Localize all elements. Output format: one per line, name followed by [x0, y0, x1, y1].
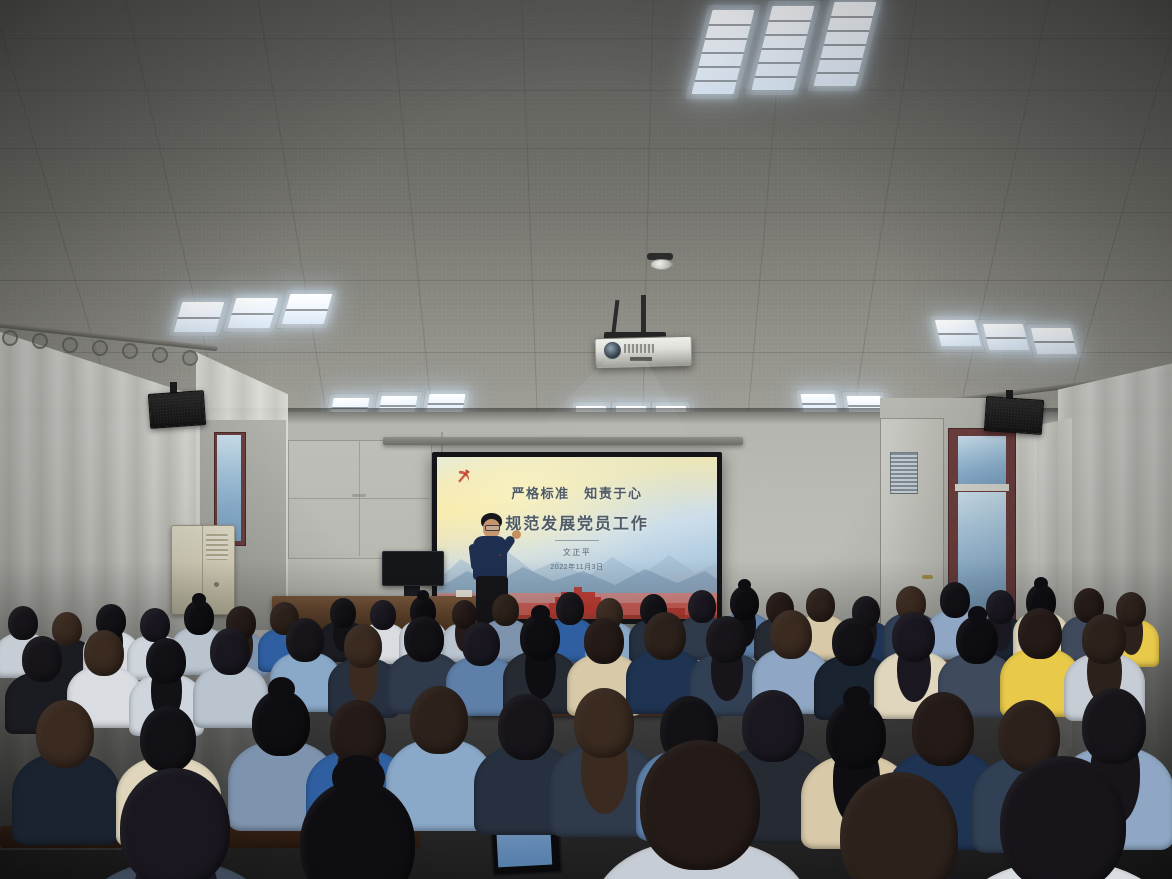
window-right-mullion [955, 484, 1009, 491]
audience-member-head [8, 606, 38, 640]
audience-member-head [146, 638, 186, 684]
projector-brandplate [630, 357, 652, 361]
audience-member-hair-bun [1034, 577, 1048, 590]
audience-member-head [498, 694, 554, 760]
ceiling-grid-line-lateral [0, 148, 1172, 149]
audience-member-head [344, 624, 382, 668]
curtain-grommet [2, 330, 18, 346]
audience-member-head [584, 618, 624, 664]
light-fixture-louver [986, 337, 1026, 339]
audience-member [640, 740, 868, 879]
audience-member-head [770, 610, 812, 659]
audience-member-head [1018, 608, 1062, 659]
projection-screen-housing [383, 437, 743, 445]
audience-member-head [36, 700, 94, 768]
audience-member [300, 780, 519, 879]
light-fixture-louver [380, 405, 416, 407]
light-fixture-louver [758, 62, 800, 64]
audience-member-head [1082, 688, 1146, 764]
audience-member-hair-bun [332, 755, 385, 800]
ceiling-grid-line-lateral [0, 280, 1172, 281]
wall-panel-handle [352, 494, 366, 497]
audience-member-hair-bun [531, 605, 549, 622]
audience-member [120, 768, 329, 879]
light-fixture-louver [848, 405, 882, 407]
audience-member-head [730, 586, 759, 620]
audience-member-head [84, 630, 124, 676]
light-fixture-louver [232, 313, 274, 315]
light-fixture-louver [755, 76, 797, 78]
audience-member-head [644, 612, 686, 660]
audience-member-head [404, 616, 444, 662]
audience-member-head [640, 740, 760, 870]
audience-member-head [574, 688, 634, 758]
wall-speaker-left [148, 390, 206, 429]
audience-member-head [22, 636, 62, 682]
recessed-fluorescent-light [1028, 326, 1079, 356]
light-fixture-louver [769, 20, 811, 22]
audience-member-head [286, 618, 324, 662]
audience-member-head [410, 686, 468, 754]
light-fixture-louver [827, 30, 869, 32]
ceiling-grid-line-longitudinal [640, 0, 655, 470]
audience-member-head [210, 628, 250, 675]
ceiling-grid-line-lateral [0, 90, 1172, 91]
light-fixture-louver [698, 66, 740, 68]
light-fixture-louver [831, 16, 873, 18]
light-fixture-louver [820, 58, 862, 60]
light-fixture-louver [428, 403, 464, 405]
light-fixture-louver [824, 44, 866, 46]
curtain-grommet [62, 337, 78, 353]
audience-member-head [140, 706, 196, 772]
window-right-glass-upper [958, 436, 1006, 484]
wall-speaker-right [984, 396, 1044, 435]
recessed-fluorescent-light [225, 296, 281, 330]
curtain-grommet [92, 340, 108, 356]
wall-panel-seam-horizontal [289, 498, 429, 499]
recessed-fluorescent-light [171, 300, 227, 334]
projector-lens [604, 342, 621, 359]
audience-member-head [1000, 756, 1126, 879]
light-fixture-louver [695, 80, 737, 82]
audience-member-head [840, 772, 958, 879]
light-fixture-louver [802, 403, 836, 405]
lecture-hall-photo: 严格标准 知责于心 规范发展党员工作 文正平 2022年11月3日 [0, 0, 1172, 879]
light-fixture-louver [705, 38, 747, 40]
audience-member-head [120, 768, 230, 879]
slide-divider [555, 540, 599, 541]
audience-member-hair-bun [192, 593, 206, 606]
audience-member-head [1082, 614, 1126, 664]
light-fixture-louver [709, 24, 751, 26]
audience-member-head [912, 692, 974, 766]
ac-vent-grille [206, 534, 228, 560]
door-louver-vent [890, 452, 918, 494]
speaker-grille-left [152, 394, 202, 424]
light-fixture-louver [178, 317, 220, 319]
light-fixture-louver [938, 333, 978, 335]
speaker-grille-right [988, 400, 1040, 430]
light-fixture-louver [762, 48, 804, 50]
ceiling-grid-line-lateral [0, 212, 1172, 213]
light-fixture-louver [817, 72, 859, 74]
light-fixture-louver [286, 309, 328, 311]
curtain-grommet [152, 347, 168, 363]
light-fixture-louver [1034, 341, 1074, 343]
recessed-fluorescent-light [932, 318, 983, 348]
projector-vent [624, 344, 654, 353]
audience-member-head [832, 618, 874, 666]
curtain-grommet [182, 350, 198, 366]
light-fixture-louver [702, 52, 744, 54]
light-fixture-louver [765, 34, 807, 36]
ceiling-grid-line-longitudinal [520, 0, 541, 470]
audience-member-head [462, 622, 500, 666]
audience-member-head [706, 616, 747, 663]
audience-member-hair-bun [268, 677, 295, 701]
presenter-hand [512, 530, 521, 539]
recessed-fluorescent-light [279, 292, 335, 326]
recessed-fluorescent-light [980, 322, 1031, 352]
ceiling-grid-line-lateral [0, 38, 1172, 39]
smoke-detector [650, 259, 673, 270]
wall-access-panel [288, 440, 432, 559]
audience-member-head [892, 612, 935, 662]
slide-title-line-1: 严格标准 知责于心 [437, 483, 717, 502]
audience-member-hair-bun [968, 606, 987, 623]
audience-member [1000, 756, 1172, 879]
slide-title-line-2: 规范发展党员工作 [437, 510, 717, 534]
presenter-glasses [485, 525, 500, 531]
